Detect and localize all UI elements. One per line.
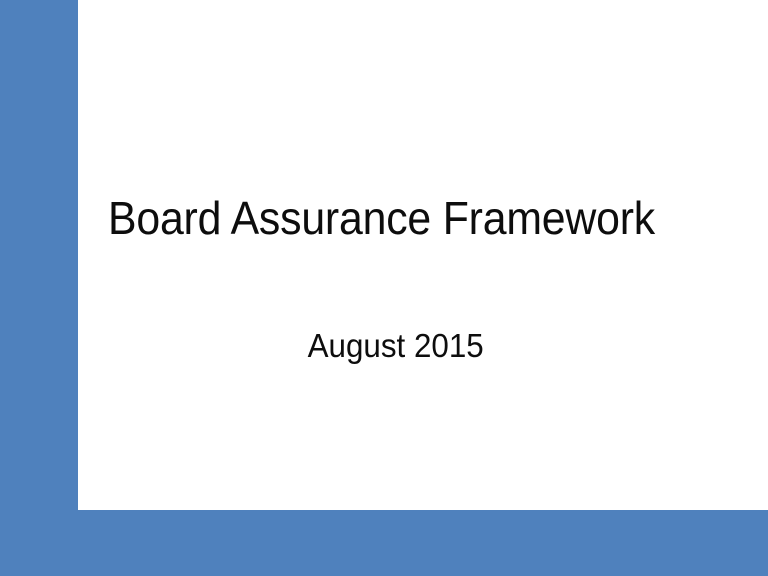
left-accent-band <box>0 0 78 576</box>
subtitle-placeholder[interactable]: August 2015 <box>108 328 684 374</box>
title-slide: Board Assurance Framework August 2015 <box>0 0 768 576</box>
slide-content-panel: Board Assurance Framework August 2015 <box>78 0 768 510</box>
bottom-accent-band <box>0 510 768 576</box>
slide-subtitle: August 2015 <box>308 328 484 364</box>
page-title: Board Assurance Framework <box>108 194 655 242</box>
title-placeholder[interactable]: Board Assurance Framework <box>108 172 748 242</box>
